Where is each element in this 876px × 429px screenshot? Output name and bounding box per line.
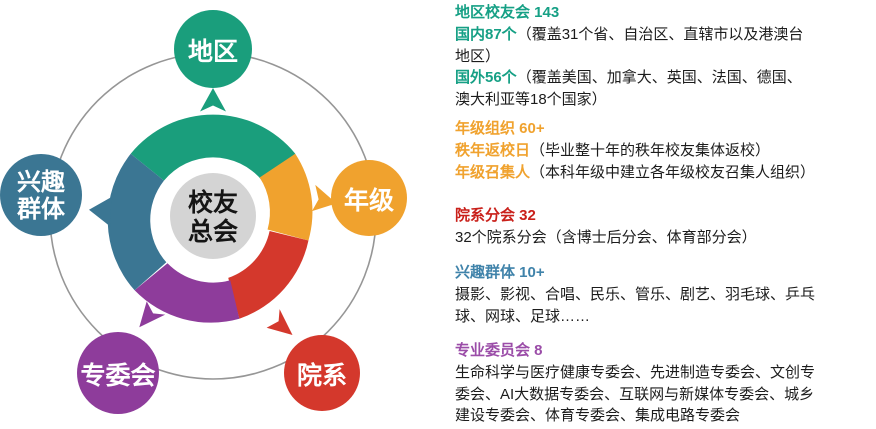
details-heading-region: 地区校友会 143 bbox=[455, 2, 873, 23]
details-line-emphasis: 秩年返校日 bbox=[455, 142, 530, 159]
bubble-region-label: 地区 bbox=[188, 38, 238, 66]
details-line-emphasis: 国内87个 bbox=[455, 26, 517, 43]
details-line: 32个院系分会（含博士后分会、体育部分会） bbox=[455, 227, 873, 249]
ring-segment-interest[interactable] bbox=[89, 154, 166, 291]
details-heading-faculty: 院系分会 32 bbox=[455, 205, 873, 226]
details-line: 生命科学与医疗健康专委会、先进制造专委会、文创专 bbox=[455, 362, 873, 384]
details-panel: 地区校友会 143 国内87个（覆盖31个省、自治区、直辖市以及港澳台 地区） … bbox=[455, 0, 876, 429]
details-line: 国内87个（覆盖31个省、自治区、直辖市以及港澳台 bbox=[455, 24, 873, 46]
details-line: 摄影、影视、合唱、民乐、管乐、剧艺、羽毛球、乒乓 bbox=[455, 284, 873, 306]
details-line-rest: （覆盖美国、加拿大、英国、法国、德国、 bbox=[517, 69, 802, 86]
details-line-emphasis: 国外56个 bbox=[455, 69, 517, 86]
bubble-interest-label-line2: 群体 bbox=[17, 196, 66, 223]
bubble-faculty[interactable]: 院系 bbox=[284, 335, 360, 411]
bubble-grade[interactable]: 年级 bbox=[331, 160, 407, 236]
details-heading-grade: 年级组织 60+ bbox=[455, 118, 873, 139]
details-line-rest: 澳大利亚等18个国家） bbox=[455, 91, 607, 108]
details-heading-interest: 兴趣群体 10+ bbox=[455, 262, 873, 283]
details-line-rest: （本科年级中建立各年级校友召集人组织） bbox=[530, 164, 815, 181]
details-block-committee: 专业委员会 8 生命科学与医疗健康专委会、先进制造专委会、文创专 委会、AI大数… bbox=[455, 340, 873, 427]
details-block-grade: 年级组织 60+ 秩年返校日（毕业整十年的秩年校友集体返校） 年级召集人（本科年… bbox=[455, 118, 873, 183]
ring-segment-region-chevron bbox=[200, 88, 226, 112]
alumni-structure-diagram: 校友 总会 地区 年级 院系 专委会 兴趣 群体 bbox=[0, 0, 440, 429]
details-heading-committee: 专业委员会 8 bbox=[455, 340, 873, 361]
hub-label-line2: 总会 bbox=[188, 218, 238, 246]
details-line-emphasis: 年级召集人 bbox=[455, 164, 530, 181]
details-line: 秩年返校日（毕业整十年的秩年校友集体返校） bbox=[455, 140, 873, 162]
bubble-interest[interactable]: 兴趣 群体 bbox=[0, 154, 82, 236]
bubble-region[interactable]: 地区 bbox=[174, 10, 252, 88]
details-block-faculty: 院系分会 32 32个院系分会（含博士后分会、体育部分会） bbox=[455, 205, 873, 249]
details-line: 年级召集人（本科年级中建立各年级校友召集人组织） bbox=[455, 162, 873, 184]
details-line: 澳大利亚等18个国家） bbox=[455, 89, 873, 111]
details-line: 委会、AI大数据专委会、互联网与新媒体专委会、城乡 bbox=[455, 384, 873, 406]
details-line: 球、网球、足球…… bbox=[455, 306, 873, 328]
ring-segment-interest-chevron bbox=[89, 196, 113, 226]
bubble-faculty-label: 院系 bbox=[297, 361, 347, 390]
details-line-rest: （毕业整十年的秩年校友集体返校） bbox=[530, 142, 770, 159]
bubble-committee[interactable]: 专委会 bbox=[77, 332, 159, 414]
details-line: 地区） bbox=[455, 46, 873, 68]
details-line: 国外56个（覆盖美国、加拿大、英国、法国、德国、 bbox=[455, 67, 873, 89]
bubble-interest-label-line1: 兴趣 bbox=[17, 169, 66, 196]
bubble-committee-label: 专委会 bbox=[80, 361, 155, 390]
details-line-rest: 地区） bbox=[455, 48, 500, 65]
details-line-rest: （覆盖31个省、自治区、直辖市以及港澳台 bbox=[517, 26, 804, 43]
bubble-grade-label: 年级 bbox=[344, 186, 394, 215]
diagram-svg: 校友 总会 地区 年级 院系 专委会 兴趣 群体 bbox=[0, 0, 440, 429]
ring-segment-faculty-chevron bbox=[267, 309, 293, 335]
hub-label-line1: 校友 bbox=[188, 188, 238, 217]
details-block-interest: 兴趣群体 10+ 摄影、影视、合唱、民乐、管乐、剧艺、羽毛球、乒乓 球、网球、足… bbox=[455, 262, 873, 327]
infographic-root: 校友 总会 地区 年级 院系 专委会 兴趣 群体 bbox=[0, 0, 876, 429]
details-line: 建设专委会、体育专委会、集成电路专委会 bbox=[455, 405, 873, 427]
details-block-region: 地区校友会 143 国内87个（覆盖31个省、自治区、直辖市以及港澳台 地区） … bbox=[455, 2, 873, 110]
